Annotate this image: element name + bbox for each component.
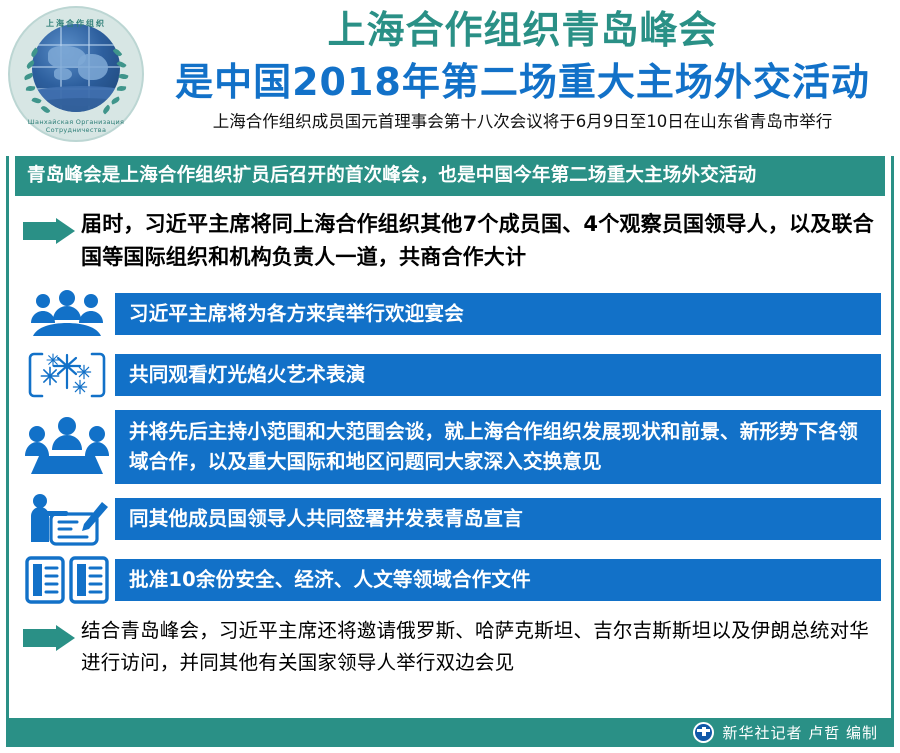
infographic-page: 上海合作组织 Шанхайская Организация Сотрудниче… [0, 0, 900, 753]
sco-emblem-cn-text: 上海合作组织 [8, 18, 144, 29]
lead-paragraph-row: 届时，习近平主席将同上海合作组织其他7个成员国、4个观察员国领导人，以及联合国等… [19, 208, 881, 280]
lead-paragraph-text: 届时，习近平主席将同上海合作组织其他7个成员国、4个观察员国领导人，以及联合国等… [81, 208, 881, 274]
footer: 新华社记者 卢哲 编制 [6, 718, 894, 747]
sco-emblem-icon: 上海合作组织 Шанхайская Организация Сотрудниче… [8, 6, 148, 146]
activity-row: 批准10余份安全、经济、人文等领域合作文件 [19, 554, 881, 606]
meeting-talks-icon [19, 412, 115, 482]
banquet-icon [19, 288, 115, 340]
sco-emblem-ru-text: Шанхайская Организация Сотрудничества [8, 118, 144, 134]
xinhua-logo-icon [693, 722, 714, 743]
page-subtitle: 上海合作组织成员国元首理事会第十八次会议将于6月9日至10日在山东省青岛市举行 [150, 110, 895, 134]
activity-rows: 习近平主席将为各方来宾举行欢迎宴会 [19, 288, 881, 606]
page-title-line1: 上海合作组织青岛峰会 [150, 4, 895, 56]
activity-row: 并将先后主持小范围和大范围会谈，就上海合作组织发展现状和前景、新形势下各领域合作… [19, 410, 881, 484]
activity-row: 同其他成员国领导人共同签署并发表青岛宣言 [19, 493, 881, 545]
arrow-right-icon [23, 218, 75, 244]
activity-text: 共同观看灯光焰火艺术表演 [115, 354, 881, 396]
activity-text: 习近平主席将为各方来宾举行欢迎宴会 [115, 293, 881, 335]
header: 上海合作组织 Шанхайская Организация Сотрудниче… [0, 0, 900, 150]
activity-text: 同其他成员国领导人共同签署并发表青岛宣言 [115, 498, 881, 540]
activity-text: 并将先后主持小范围和大范围会谈，就上海合作组织发展现状和前景、新形势下各领域合作… [115, 410, 881, 484]
two-documents-icon [19, 554, 115, 606]
closing-paragraph-text: 结合青岛峰会，习近平主席还将邀请俄罗斯、哈萨克斯坦、吉尔吉斯斯坦以及伊朗总统对华… [81, 615, 881, 679]
page-title-line2: 是中国2018年第二场重大主场外交活动 [150, 56, 895, 108]
fireworks-icon [19, 349, 115, 401]
activity-text: 批准10余份安全、经济、人文等领域合作文件 [115, 559, 881, 601]
title-block: 上海合作组织青岛峰会 是中国2018年第二场重大主场外交活动 上海合作组织成员国… [150, 4, 895, 134]
highlight-banner: 青岛峰会是上海合作组织扩员后召开的首次峰会，也是中国今年第二场重大主场外交活动 [15, 156, 885, 196]
content-frame: 青岛峰会是上海合作组织扩员后召开的首次峰会，也是中国今年第二场重大主场外交活动 … [6, 156, 894, 724]
arrow-right-icon [23, 625, 75, 651]
activity-row: 习近平主席将为各方来宾举行欢迎宴会 [19, 288, 881, 340]
activity-row: 共同观看灯光焰火艺术表演 [19, 349, 881, 401]
signing-document-icon [19, 493, 115, 545]
footer-credit: 新华社记者 卢哲 编制 [722, 722, 878, 743]
closing-paragraph-row: 结合青岛峰会，习近平主席还将邀请俄罗斯、哈萨克斯坦、吉尔吉斯斯坦以及伊朗总统对华… [19, 615, 881, 685]
